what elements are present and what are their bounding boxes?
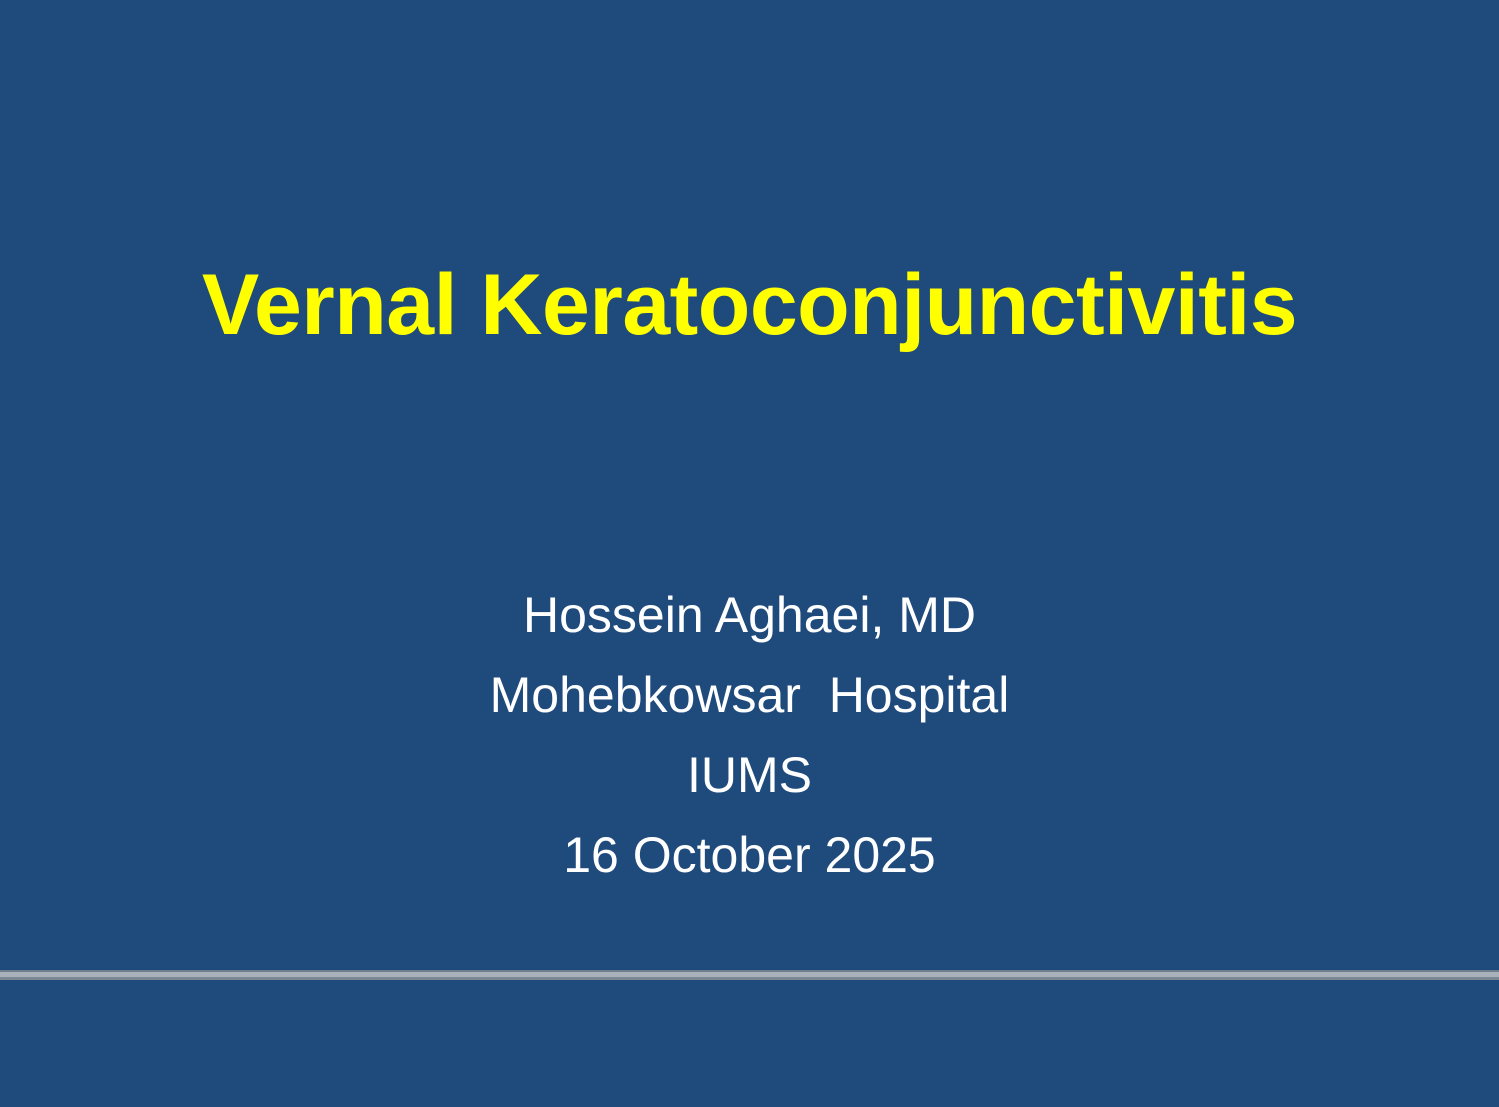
subtitle-line-date: 16 October 2025	[0, 815, 1499, 895]
slide-title: Vernal Keratoconjunctivitis	[202, 258, 1297, 353]
title-area: Vernal Keratoconjunctivitis	[0, 258, 1499, 353]
title-slide: Vernal Keratoconjunctivitis Hossein Agha…	[0, 0, 1499, 1107]
subtitle-line-hospital: Mohebkowsar Hospital	[0, 655, 1499, 735]
subtitle-area: Hossein Aghaei, MD Mohebkowsar Hospital …	[0, 575, 1499, 895]
subtitle-line-institution: IUMS	[0, 735, 1499, 815]
subtitle-line-presenter: Hossein Aghaei, MD	[0, 575, 1499, 655]
footer-divider	[0, 970, 1499, 980]
divider-bottom-edge	[0, 977, 1499, 980]
